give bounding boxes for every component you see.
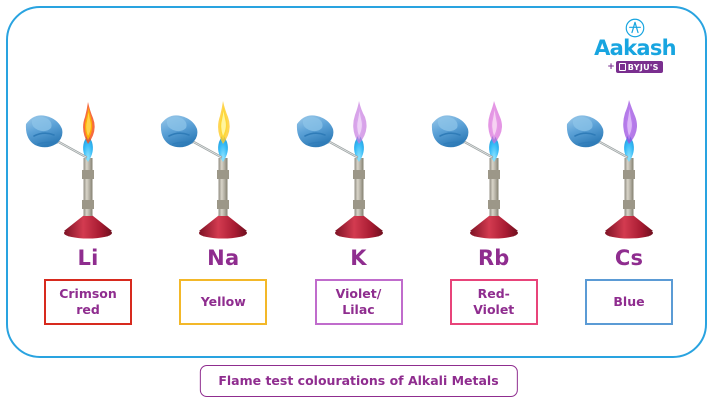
gloved-hand-icon [26, 115, 62, 147]
colour-box-rb: Red- Violet [450, 279, 538, 325]
brand-logo: Aakash +BYJU'S [587, 18, 683, 73]
element-symbol-na: Na [207, 248, 239, 269]
colour-label-na: Yellow [201, 294, 246, 310]
figure-caption: Flame test colourations of Alkali Metals [199, 365, 517, 397]
logo-byjus-text: BYJU'S [628, 63, 659, 72]
byjus-book-icon [619, 63, 626, 71]
experiment-cell-li: Li Crimson red [24, 100, 152, 325]
figure-card: Aakash +BYJU'S [6, 6, 707, 358]
logo-wordmark: Aakash [587, 38, 683, 59]
colour-box-na: Yellow [179, 279, 267, 325]
colour-box-k: Violet/ Lilac [315, 279, 403, 325]
gloved-hand-icon [567, 115, 603, 147]
experiment-cell-k: K Violet/ Lilac [295, 100, 423, 325]
aakash-monogram-icon [625, 18, 645, 38]
element-symbol-li: Li [78, 248, 99, 269]
bunsen-burner-icon [159, 100, 287, 240]
gloved-hand-icon [296, 115, 332, 147]
gloved-hand-icon [161, 115, 197, 147]
logo-byjus-badge: BYJU'S [616, 61, 663, 73]
colour-label-cs: Blue [613, 294, 644, 310]
experiment-cell-na: Na Yellow [159, 100, 287, 325]
colour-label-li: Crimson red [59, 286, 117, 317]
element-symbol-rb: Rb [478, 248, 510, 269]
colour-box-li: Crimson red [44, 279, 132, 325]
colour-box-cs: Blue [585, 279, 673, 325]
gloved-hand-icon [432, 115, 468, 147]
logo-byjus-lockup: +BYJU'S [587, 61, 683, 73]
bunsen-burner-icon [430, 100, 558, 240]
bunsen-burner-icon [24, 100, 152, 240]
experiments-row: Li Crimson red [24, 100, 693, 325]
logo-plus-sign: + [607, 63, 615, 72]
bunsen-burner-icon [295, 100, 423, 240]
experiment-cell-cs: Cs Blue [565, 100, 693, 325]
colour-label-k: Violet/ Lilac [336, 286, 382, 317]
bunsen-burner-icon [565, 100, 693, 240]
figure-caption-text: Flame test colourations of Alkali Metals [218, 373, 498, 388]
colour-label-rb: Red- Violet [473, 286, 514, 317]
element-symbol-cs: Cs [615, 248, 643, 269]
element-symbol-k: K [350, 248, 366, 269]
experiment-cell-rb: Rb Red- Violet [430, 100, 558, 325]
